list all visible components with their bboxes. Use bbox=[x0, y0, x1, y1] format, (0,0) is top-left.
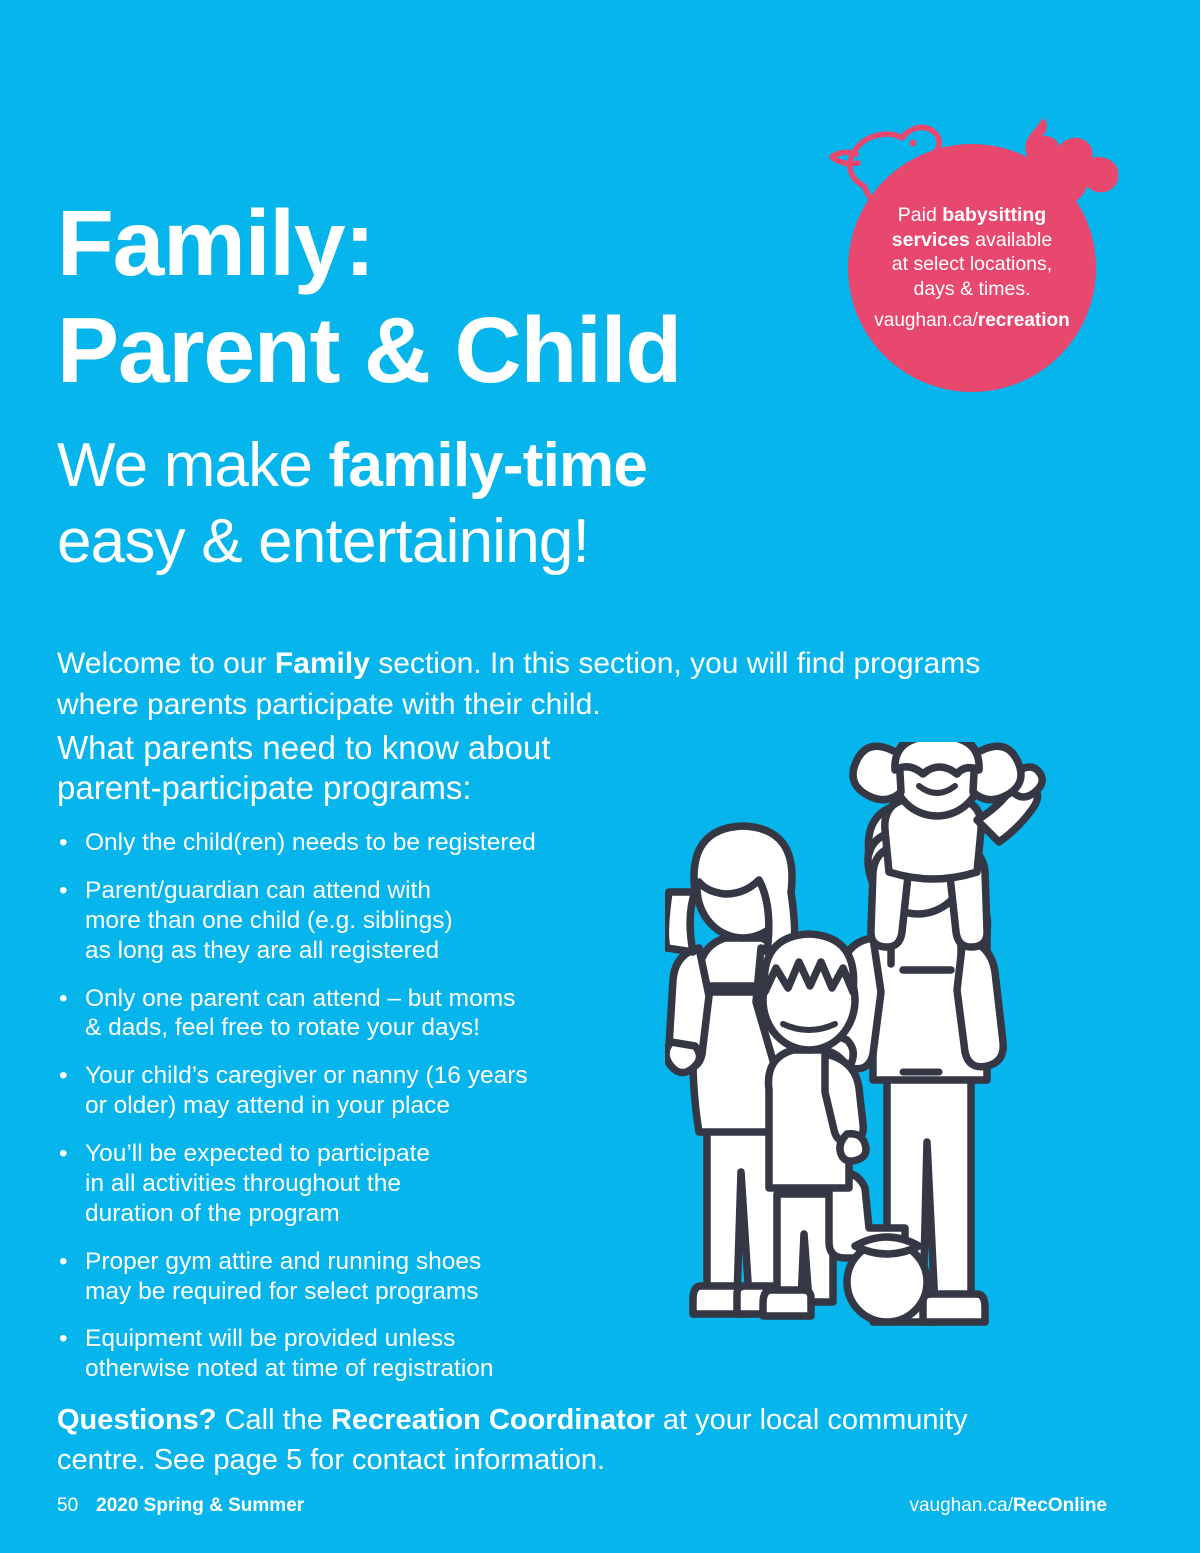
page-title-line-1: Family: bbox=[57, 191, 374, 295]
list-item: • Equipment will be provided unless othe… bbox=[57, 1324, 667, 1384]
bullet-marker-icon: • bbox=[59, 1324, 68, 1354]
bullet-marker-icon: • bbox=[59, 876, 68, 906]
bullet-marker-icon: • bbox=[59, 984, 68, 1014]
questions-paragraph: Questions? Call the Recreation Coordinat… bbox=[57, 1401, 1057, 1480]
parent-info-list: • Only the child(ren) needs to be regist… bbox=[57, 828, 667, 1402]
footer-url-bold: RecOnline bbox=[1013, 1495, 1107, 1516]
badge-line-1: Paid babysitting bbox=[898, 203, 1046, 228]
headline-line-1-bold: family-time bbox=[329, 431, 648, 500]
questions-bold-2: Recreation Coordinator bbox=[331, 1404, 655, 1436]
list-item-line: You’ll be expected to participate bbox=[85, 1139, 667, 1169]
list-item: • Your child’s caregiver or nanny (16 ye… bbox=[57, 1061, 667, 1121]
bullet-marker-icon: • bbox=[59, 828, 68, 858]
bullets-subheading: What parents need to know about parent-p… bbox=[57, 728, 697, 809]
list-item: • Proper gym attire and running shoes ma… bbox=[57, 1247, 667, 1307]
list-item-line: & dads, feel free to rotate your days! bbox=[85, 1013, 667, 1043]
list-item: • Only the child(ren) needs to be regist… bbox=[57, 828, 667, 858]
list-item: • Parent/guardian can attend with more t… bbox=[57, 876, 667, 966]
list-item-line: Only one parent can attend – but moms bbox=[85, 984, 667, 1014]
footer-url[interactable]: vaughan.ca/RecOnline bbox=[909, 1495, 1107, 1517]
list-item: • Only one parent can attend – but moms … bbox=[57, 984, 667, 1044]
bullet-marker-icon: • bbox=[59, 1247, 68, 1277]
intro-paragraph: Welcome to our Family section. In this s… bbox=[57, 644, 1047, 726]
list-item-line: may be required for select programs bbox=[85, 1277, 667, 1307]
intro-bold: Family bbox=[275, 647, 370, 680]
badge-line-4: days & times. bbox=[913, 277, 1030, 302]
page-title-line-2: Parent & Child bbox=[57, 297, 681, 404]
family-illustration bbox=[665, 742, 1080, 1357]
list-item-line: duration of the program bbox=[85, 1199, 667, 1229]
headline-line-1-plain: We make bbox=[57, 431, 329, 500]
bullets-subheading-line-2: parent-participate programs: bbox=[57, 768, 697, 808]
list-item-line: Your child’s caregiver or nanny (16 year… bbox=[85, 1061, 667, 1091]
badge-line-2: services available bbox=[892, 228, 1052, 253]
intro-part-1: Welcome to our bbox=[57, 647, 275, 680]
questions-bold-1: Questions? bbox=[57, 1404, 217, 1436]
badge-url[interactable]: vaughan.ca/recreation bbox=[874, 309, 1069, 333]
list-item-line: in all activities throughout the bbox=[85, 1169, 667, 1199]
page-number: 50 bbox=[57, 1495, 78, 1516]
questions-mid-1: Call the bbox=[217, 1404, 331, 1436]
headline: We make family-time easy & entertaining! bbox=[57, 428, 647, 579]
headline-line-2: easy & entertaining! bbox=[57, 504, 647, 580]
list-item-line: Proper gym attire and running shoes bbox=[85, 1247, 667, 1277]
list-item-line: Parent/guardian can attend with bbox=[85, 876, 667, 906]
page-root: Paid babysitting services available at s… bbox=[0, 0, 1200, 1553]
list-item-line: Equipment will be provided unless bbox=[85, 1324, 667, 1354]
list-item-line: as long as they are all registered bbox=[85, 936, 667, 966]
footer-url-plain: vaughan.ca/ bbox=[909, 1495, 1013, 1516]
bullet-marker-icon: • bbox=[59, 1139, 68, 1169]
list-item-line: otherwise noted at time of registration bbox=[85, 1354, 667, 1384]
footer-edition: 2020 Spring & Summer bbox=[96, 1495, 304, 1516]
footer-left: 502020 Spring & Summer bbox=[57, 1495, 304, 1517]
list-item-line: or older) may attend in your place bbox=[85, 1091, 667, 1121]
page-title: Family: Parent & Child bbox=[57, 190, 681, 404]
babysitting-badge: Paid babysitting services available at s… bbox=[818, 108, 1118, 408]
list-item-line: more than one child (e.g. siblings) bbox=[85, 906, 667, 936]
bullets-subheading-line-1: What parents need to know about bbox=[57, 729, 551, 766]
soccer-ball bbox=[847, 1237, 927, 1322]
bullet-marker-icon: • bbox=[59, 1061, 68, 1091]
list-item: • You’ll be expected to participate in a… bbox=[57, 1139, 667, 1229]
list-item-line: Only the child(ren) needs to be register… bbox=[85, 828, 667, 858]
badge-line-3: at select locations, bbox=[892, 252, 1052, 277]
badge-text: Paid babysitting services available at s… bbox=[848, 144, 1096, 392]
